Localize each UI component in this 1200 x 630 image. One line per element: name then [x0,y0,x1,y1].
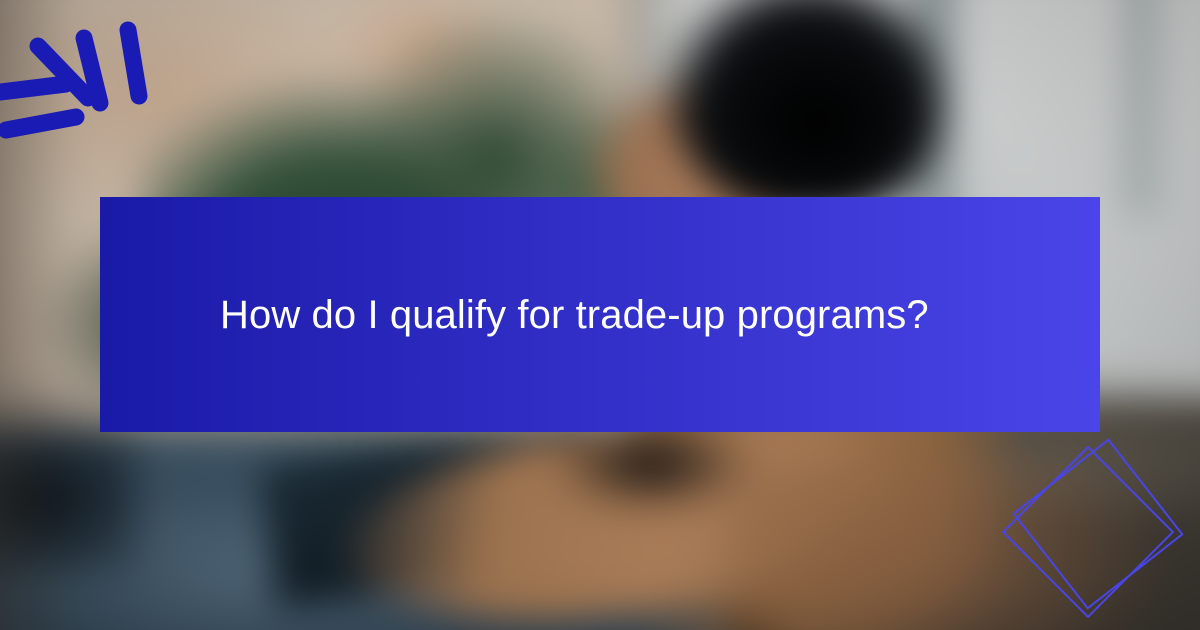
promo-card: How do I qualify for trade-up programs? [0,0,1200,630]
headline-banner: How do I qualify for trade-up programs? [100,197,1100,432]
headline-text: How do I qualify for trade-up programs? [100,290,989,340]
